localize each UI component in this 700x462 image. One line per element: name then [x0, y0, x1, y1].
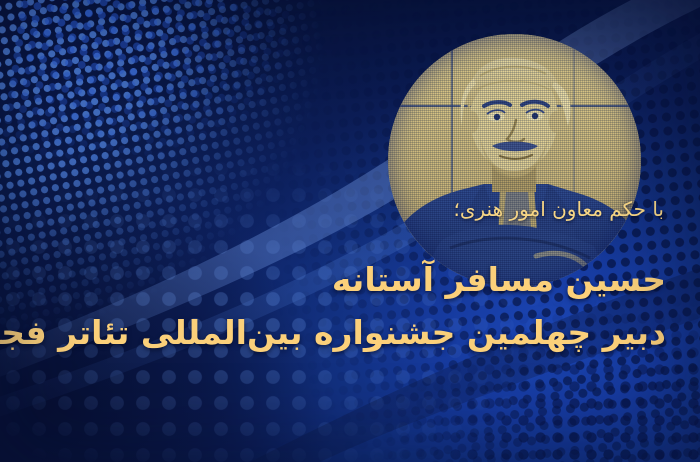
headline-block: با حکم معاون امور هنری؛ حسین مسافر آستان… — [0, 196, 700, 360]
news-banner: با حکم معاون امور هنری؛ حسین مسافر آستان… — [0, 0, 700, 462]
headline-line-1: حسین مسافر آستانه — [22, 253, 666, 306]
kicker-text: با حکم معاون امور هنری؛ — [22, 196, 664, 223]
headline-line-2: دبیر چهلمین جشنواره بین‌المللی تئاتر فجر… — [22, 306, 666, 359]
page-title: حسین مسافر آستانه دبیر چهلمین جشنواره بی… — [22, 253, 666, 360]
